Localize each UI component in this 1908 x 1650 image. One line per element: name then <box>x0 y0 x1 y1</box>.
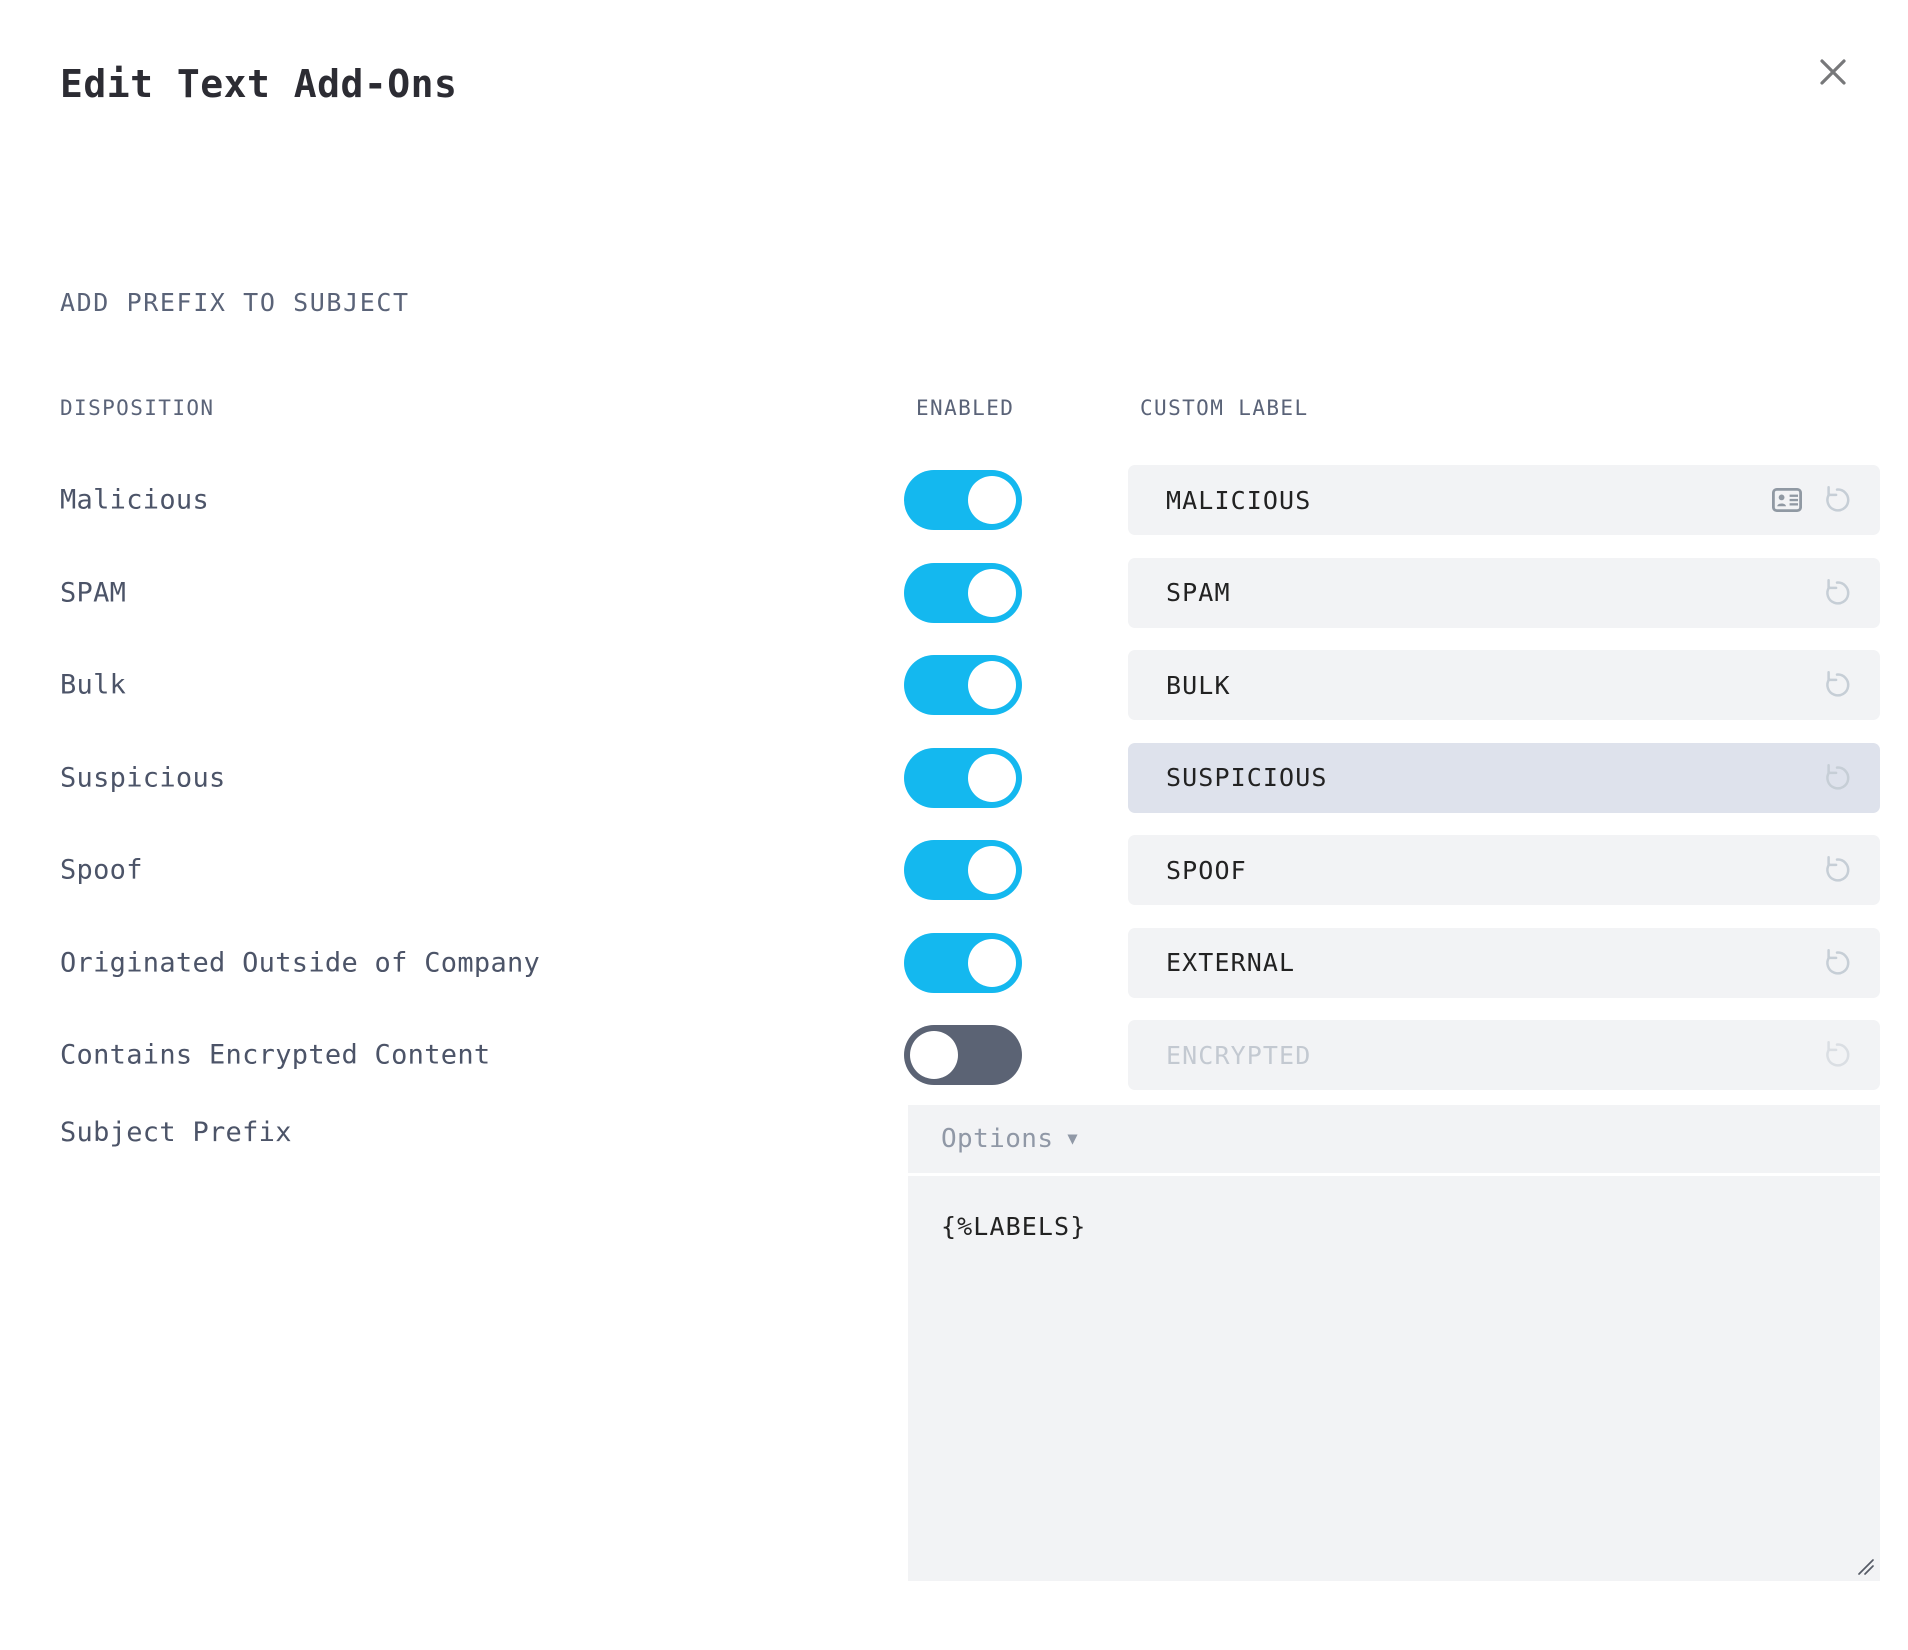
reset-icon[interactable] <box>1820 853 1854 887</box>
field-icon-group <box>1772 483 1854 517</box>
subject-prefix-value: {%LABELS} <box>941 1212 1086 1241</box>
column-header-disposition: DISPOSITION <box>60 396 214 420</box>
custom-label-value: BULK <box>1166 671 1820 700</box>
field-icon-group <box>1820 576 1854 610</box>
options-dropdown-label: Options <box>941 1124 1053 1154</box>
toggle-knob <box>968 661 1016 709</box>
table-row: SpoofSPOOF <box>0 835 1908 905</box>
reset-icon <box>1820 1038 1854 1072</box>
reset-icon[interactable] <box>1820 668 1854 702</box>
reset-icon[interactable] <box>1820 761 1854 795</box>
custom-label-value: EXTERNAL <box>1166 948 1820 977</box>
custom-label-input[interactable]: EXTERNAL <box>1128 928 1880 998</box>
column-header-custom-label: CUSTOM LABEL <box>1140 396 1309 420</box>
reset-icon[interactable] <box>1820 946 1854 980</box>
toggle-knob <box>968 476 1016 524</box>
disposition-label: Malicious <box>60 485 209 516</box>
enabled-toggle[interactable] <box>904 563 1022 623</box>
table-row: BulkBULK <box>0 650 1908 720</box>
custom-label-value: SPOOF <box>1166 856 1820 885</box>
disposition-label: Suspicious <box>60 762 226 793</box>
field-icon-group <box>1820 668 1854 702</box>
custom-label-value: SUSPICIOUS <box>1166 763 1820 792</box>
options-dropdown[interactable]: Options ▼ <box>908 1105 1880 1173</box>
field-icon-group <box>1820 946 1854 980</box>
field-icon-group <box>1820 761 1854 795</box>
toggle-knob <box>910 1031 958 1079</box>
subject-prefix-textarea[interactable]: {%LABELS} <box>908 1176 1880 1581</box>
disposition-label: Contains Encrypted Content <box>60 1040 490 1071</box>
subject-prefix-label: Subject Prefix <box>60 1117 292 1148</box>
enabled-toggle[interactable] <box>904 748 1022 808</box>
enabled-toggle[interactable] <box>904 470 1022 530</box>
custom-label-input[interactable]: MALICIOUS <box>1128 465 1880 535</box>
section-header-add-prefix: ADD PREFIX TO SUBJECT <box>60 288 410 317</box>
custom-label-input[interactable]: BULK <box>1128 650 1880 720</box>
page-title: Edit Text Add-Ons <box>60 62 457 106</box>
custom-label-input[interactable]: SUSPICIOUS <box>1128 743 1880 813</box>
field-icon-group <box>1820 853 1854 887</box>
custom-label-value: ENCRYPTED <box>1166 1041 1820 1070</box>
disposition-label: Bulk <box>60 670 126 701</box>
table-row: Originated Outside of CompanyEXTERNAL <box>0 928 1908 998</box>
custom-label-input: ENCRYPTED <box>1128 1020 1880 1090</box>
contact-card-icon[interactable] <box>1772 488 1802 512</box>
enabled-toggle[interactable] <box>904 655 1022 715</box>
close-icon <box>1817 56 1849 88</box>
disposition-label: SPAM <box>60 577 126 608</box>
toggle-knob <box>968 939 1016 987</box>
custom-label-input[interactable]: SPOOF <box>1128 835 1880 905</box>
table-row: Contains Encrypted ContentENCRYPTED <box>0 1020 1908 1090</box>
enabled-toggle[interactable] <box>904 933 1022 993</box>
custom-label-input[interactable]: SPAM <box>1128 558 1880 628</box>
reset-icon[interactable] <box>1820 483 1854 517</box>
field-icon-group <box>1820 1038 1854 1072</box>
edit-text-addons-dialog: Edit Text Add-Ons ADD PREFIX TO SUBJECT … <box>0 0 1908 1650</box>
disposition-label: Spoof <box>60 855 143 886</box>
enabled-toggle[interactable] <box>904 1025 1022 1085</box>
custom-label-value: MALICIOUS <box>1166 486 1772 515</box>
chevron-down-icon: ▼ <box>1067 1131 1077 1148</box>
table-row: SuspiciousSUSPICIOUS <box>0 743 1908 813</box>
column-header-enabled: ENABLED <box>916 396 1014 420</box>
toggle-knob <box>968 569 1016 617</box>
table-row: SPAMSPAM <box>0 558 1908 628</box>
enabled-toggle[interactable] <box>904 840 1022 900</box>
custom-label-value: SPAM <box>1166 578 1820 607</box>
close-button[interactable] <box>1806 45 1860 99</box>
reset-icon[interactable] <box>1820 576 1854 610</box>
table-row: MaliciousMALICIOUS <box>0 465 1908 535</box>
toggle-knob <box>968 846 1016 894</box>
toggle-knob <box>968 754 1016 802</box>
disposition-label: Originated Outside of Company <box>60 947 540 978</box>
resize-handle-icon[interactable] <box>1853 1554 1875 1576</box>
